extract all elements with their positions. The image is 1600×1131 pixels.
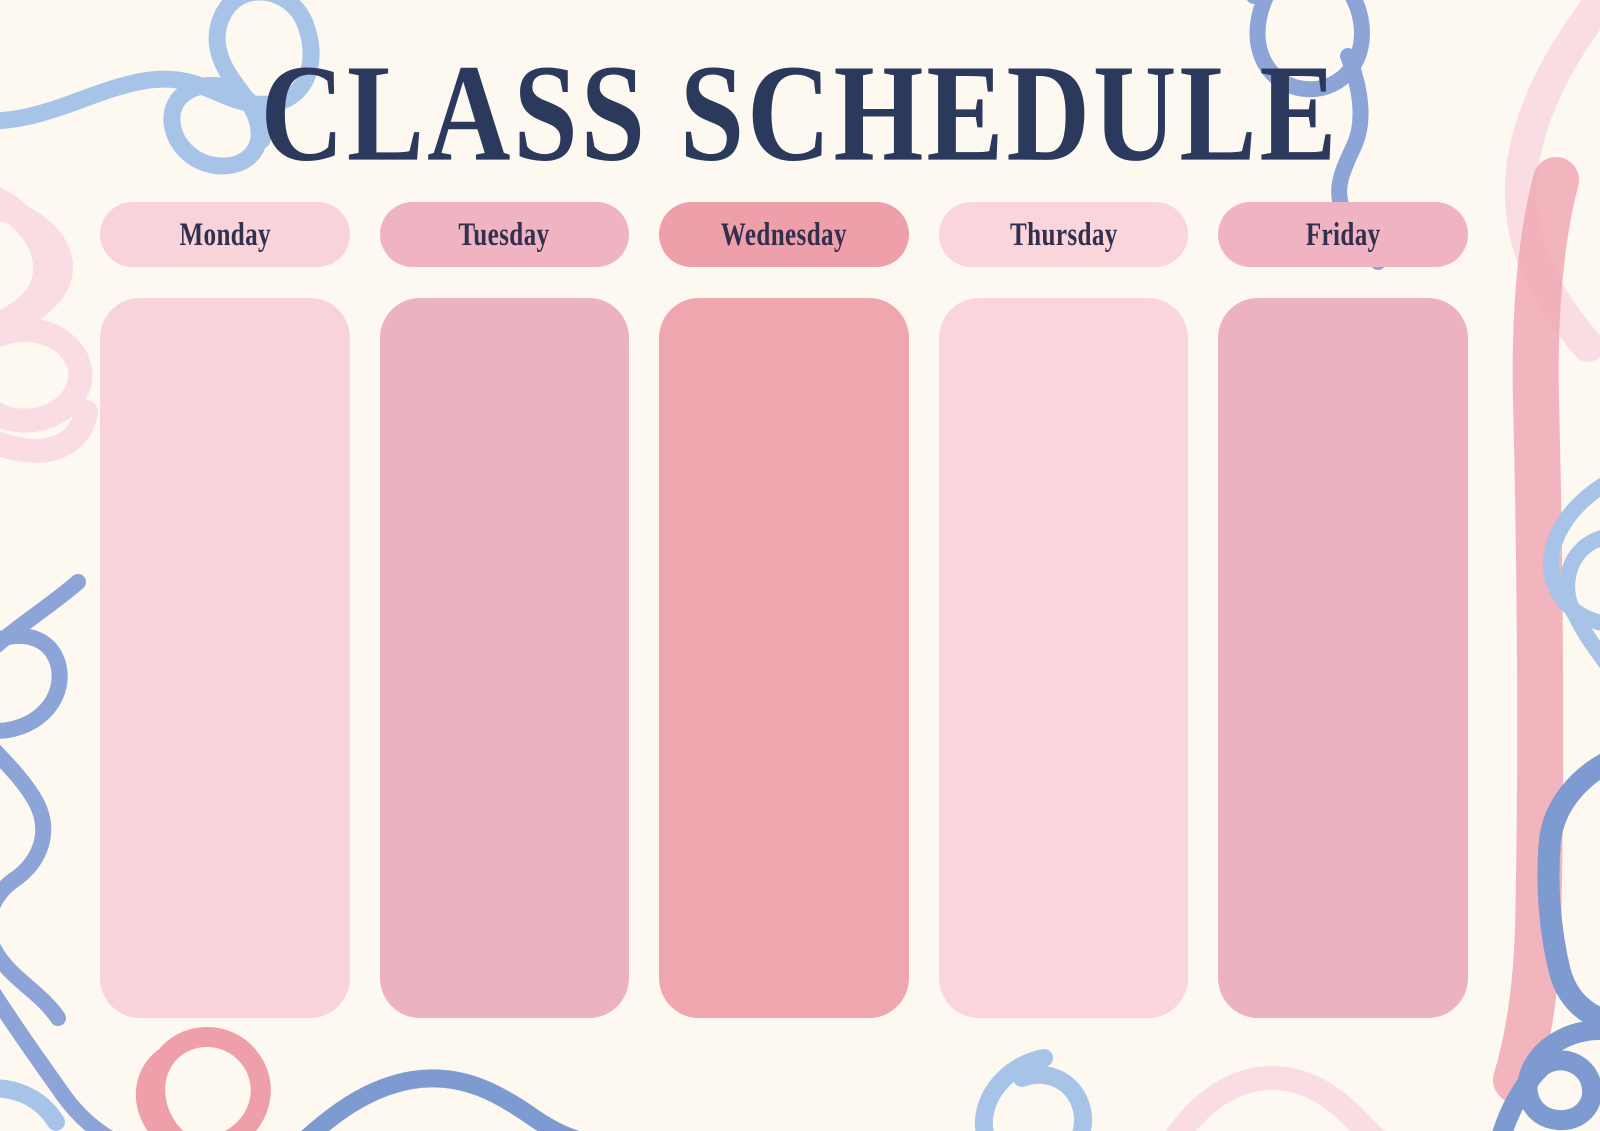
day-body-monday[interactable] [100, 298, 350, 1018]
day-body-tuesday[interactable] [380, 298, 630, 1018]
day-column-tuesday: Tuesday [380, 202, 630, 1018]
day-label-monday: Monday [179, 216, 271, 254]
day-label-friday: Friday [1306, 216, 1381, 254]
schedule-canvas: CLASS SCHEDULE Monday Tuesday Wednesday [0, 0, 1600, 1131]
day-column-friday: Friday [1218, 202, 1468, 1018]
page-title: CLASS SCHEDULE [16, 44, 1584, 183]
day-pill-thursday[interactable]: Thursday [939, 202, 1189, 267]
day-pill-friday[interactable]: Friday [1218, 202, 1468, 267]
day-column-monday: Monday [100, 202, 350, 1018]
day-label-tuesday: Tuesday [459, 216, 550, 254]
day-body-thursday[interactable] [939, 298, 1189, 1018]
day-column-wednesday: Wednesday [659, 202, 909, 1018]
day-pill-monday[interactable]: Monday [100, 202, 350, 267]
day-label-thursday: Thursday [1010, 216, 1118, 254]
day-column-thursday: Thursday [939, 202, 1189, 1018]
schedule-grid: Monday Tuesday Wednesday [100, 202, 1468, 1018]
day-pill-tuesday[interactable]: Tuesday [380, 202, 630, 267]
day-body-wednesday[interactable] [659, 298, 909, 1018]
day-body-friday[interactable] [1218, 298, 1468, 1018]
day-pill-wednesday[interactable]: Wednesday [659, 202, 909, 267]
day-label-wednesday: Wednesday [721, 216, 847, 254]
